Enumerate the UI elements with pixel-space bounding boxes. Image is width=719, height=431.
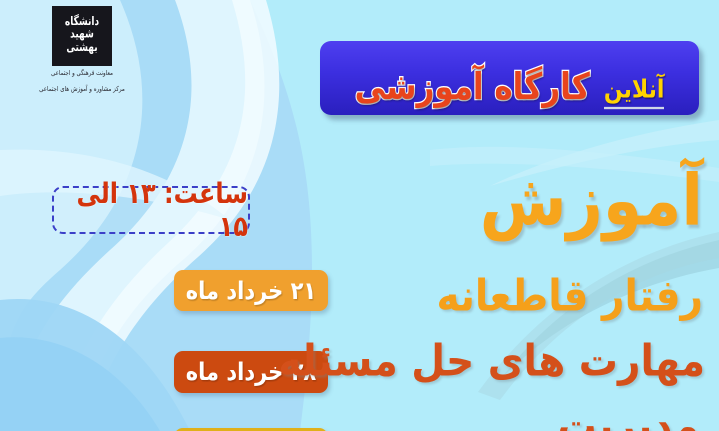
main-heading: آموزش xyxy=(480,160,703,242)
workshop-banner: آنلاین کارگاه آموزشی xyxy=(320,41,699,115)
topic-heading-assertive-behavior: رفتار قاطعانه xyxy=(437,271,703,321)
logo-subtitle-line-2: مرکز مشاوره و آموزش های اجتماعی xyxy=(18,85,146,97)
topic-heading-fourth: مدیریت xyxy=(557,401,699,431)
date-badge-first: ۲۱ خرداد ماه xyxy=(174,270,328,311)
university-logo: دانشگاه شهید بهشتی معاونت فرهنگی و اجتما… xyxy=(18,8,146,120)
date-badge-first-label: ۲۱ خرداد ماه xyxy=(186,277,317,305)
poster-canvas: دانشگاه شهید بهشتی معاونت فرهنگی و اجتما… xyxy=(0,0,719,431)
university-seal-text: دانشگاه شهید بهشتی xyxy=(54,17,110,55)
logo-subtitle-line-1: معاونت فرهنگی و اجتماعی xyxy=(18,69,146,81)
banner-online-label: آنلاین xyxy=(604,76,665,109)
university-seal-icon: دانشگاه شهید بهشتی xyxy=(54,8,110,64)
time-label: ساعت: ۱۳ الی ۱۵ xyxy=(54,177,248,243)
banner-text-group: آنلاین کارگاه آموزشی xyxy=(355,69,665,107)
banner-title: کارگاه آموزشی xyxy=(355,66,590,108)
time-badge: ساعت: ۱۳ الی ۱۵ xyxy=(52,186,250,234)
topic-heading-problem-solving: مهارت های حل مسئله xyxy=(278,336,705,386)
